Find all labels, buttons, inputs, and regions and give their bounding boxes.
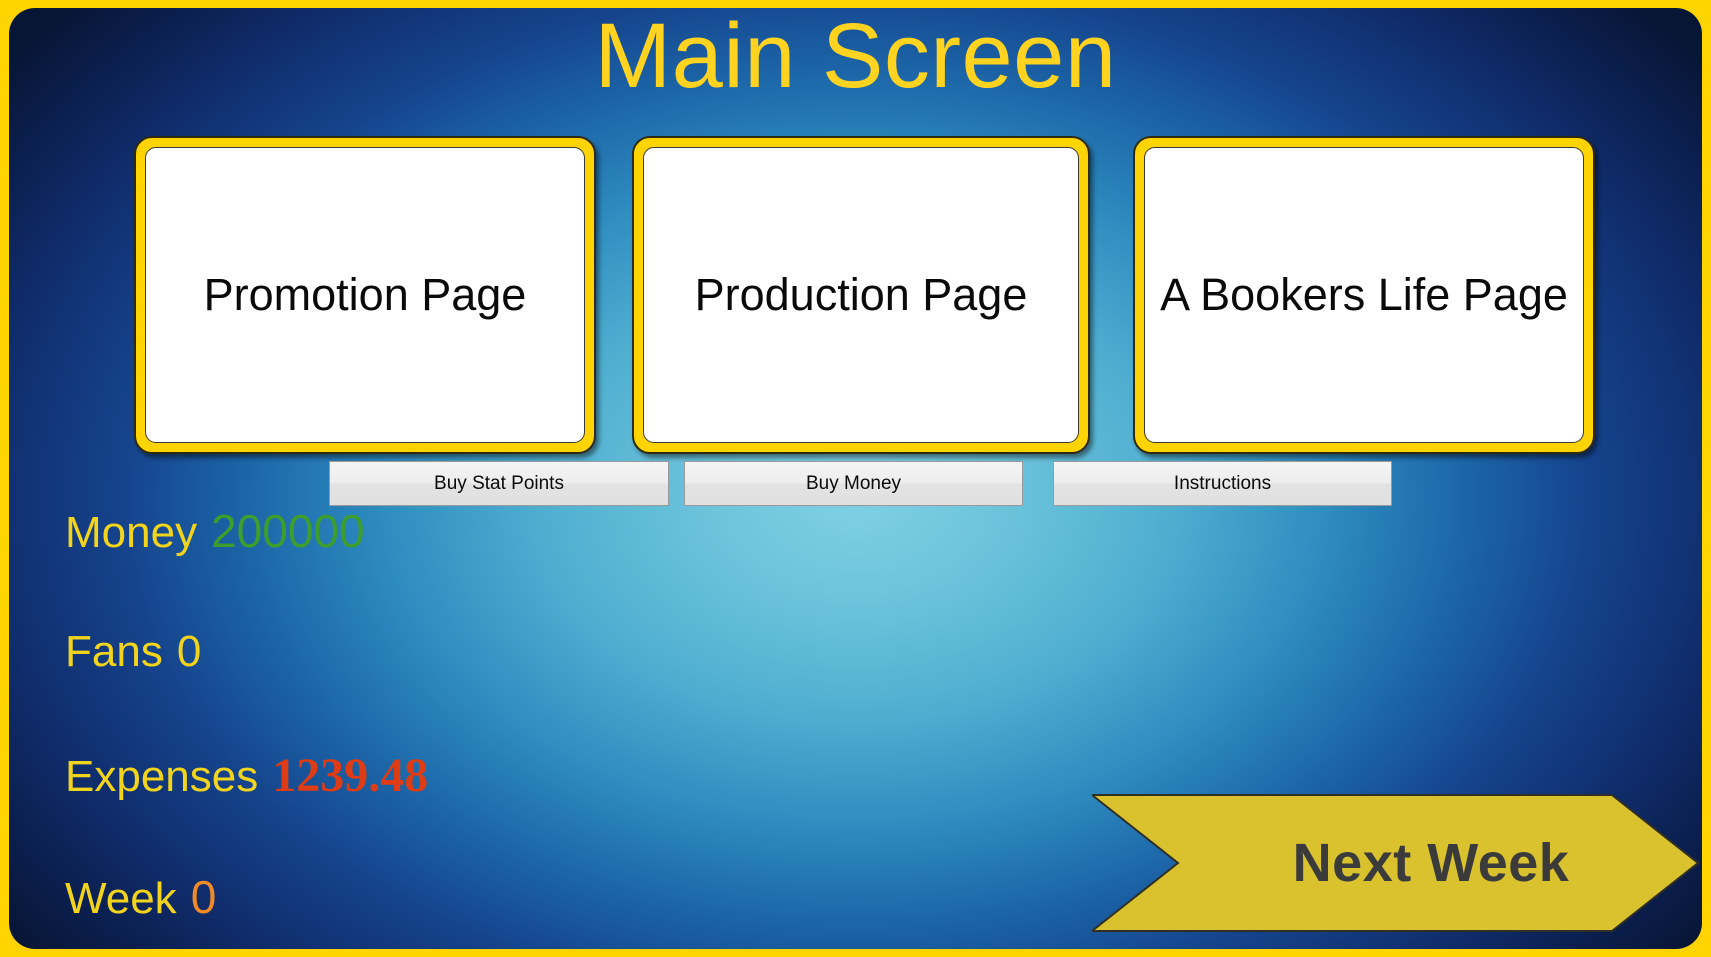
stat-money: Money200000 (65, 508, 365, 555)
nav-card-production-page-label: Production Page (695, 268, 1028, 323)
stat-expenses: Expenses1239.48 (65, 752, 428, 800)
nav-card-a-bookers-life-page[interactable]: A Bookers Life Page (1133, 136, 1595, 454)
nav-card-promotion-page-label: Promotion Page (204, 268, 527, 323)
stat-expenses-value: 1239.48 (272, 749, 428, 802)
nav-card-promotion-page-inner: Promotion Page (145, 147, 585, 443)
buy-stat-points-button[interactable]: Buy Stat Points (329, 461, 669, 506)
nav-card-a-bookers-life-page-inner: A Bookers Life Page (1144, 147, 1584, 443)
nav-card-production-page-inner: Production Page (643, 147, 1079, 443)
stat-week: Week0 (65, 874, 216, 921)
game-screen: Main Screen Promotion Page Production Pa… (0, 0, 1711, 957)
page-title: Main Screen (9, 8, 1702, 111)
stat-week-label: Week (65, 874, 177, 923)
nav-card-production-page[interactable]: Production Page (632, 136, 1090, 454)
stat-expenses-label: Expenses (65, 752, 258, 801)
stat-money-value: 200000 (211, 505, 365, 557)
stat-money-label: Money (65, 508, 197, 557)
nav-card-a-bookers-life-page-label: A Bookers Life Page (1160, 268, 1568, 323)
stat-fans-value: 0 (177, 627, 201, 676)
screen-stage: Main Screen Promotion Page Production Pa… (9, 8, 1702, 949)
next-week-label: Next Week (1092, 793, 1700, 933)
stat-week-value: 0 (191, 871, 217, 923)
buy-money-button[interactable]: Buy Money (684, 461, 1023, 506)
instructions-button[interactable]: Instructions (1053, 461, 1392, 506)
stat-fans: Fans0 (65, 630, 201, 674)
stat-fans-label: Fans (65, 627, 163, 676)
next-week-button[interactable]: Next Week (1092, 793, 1700, 933)
nav-card-promotion-page[interactable]: Promotion Page (134, 136, 596, 454)
